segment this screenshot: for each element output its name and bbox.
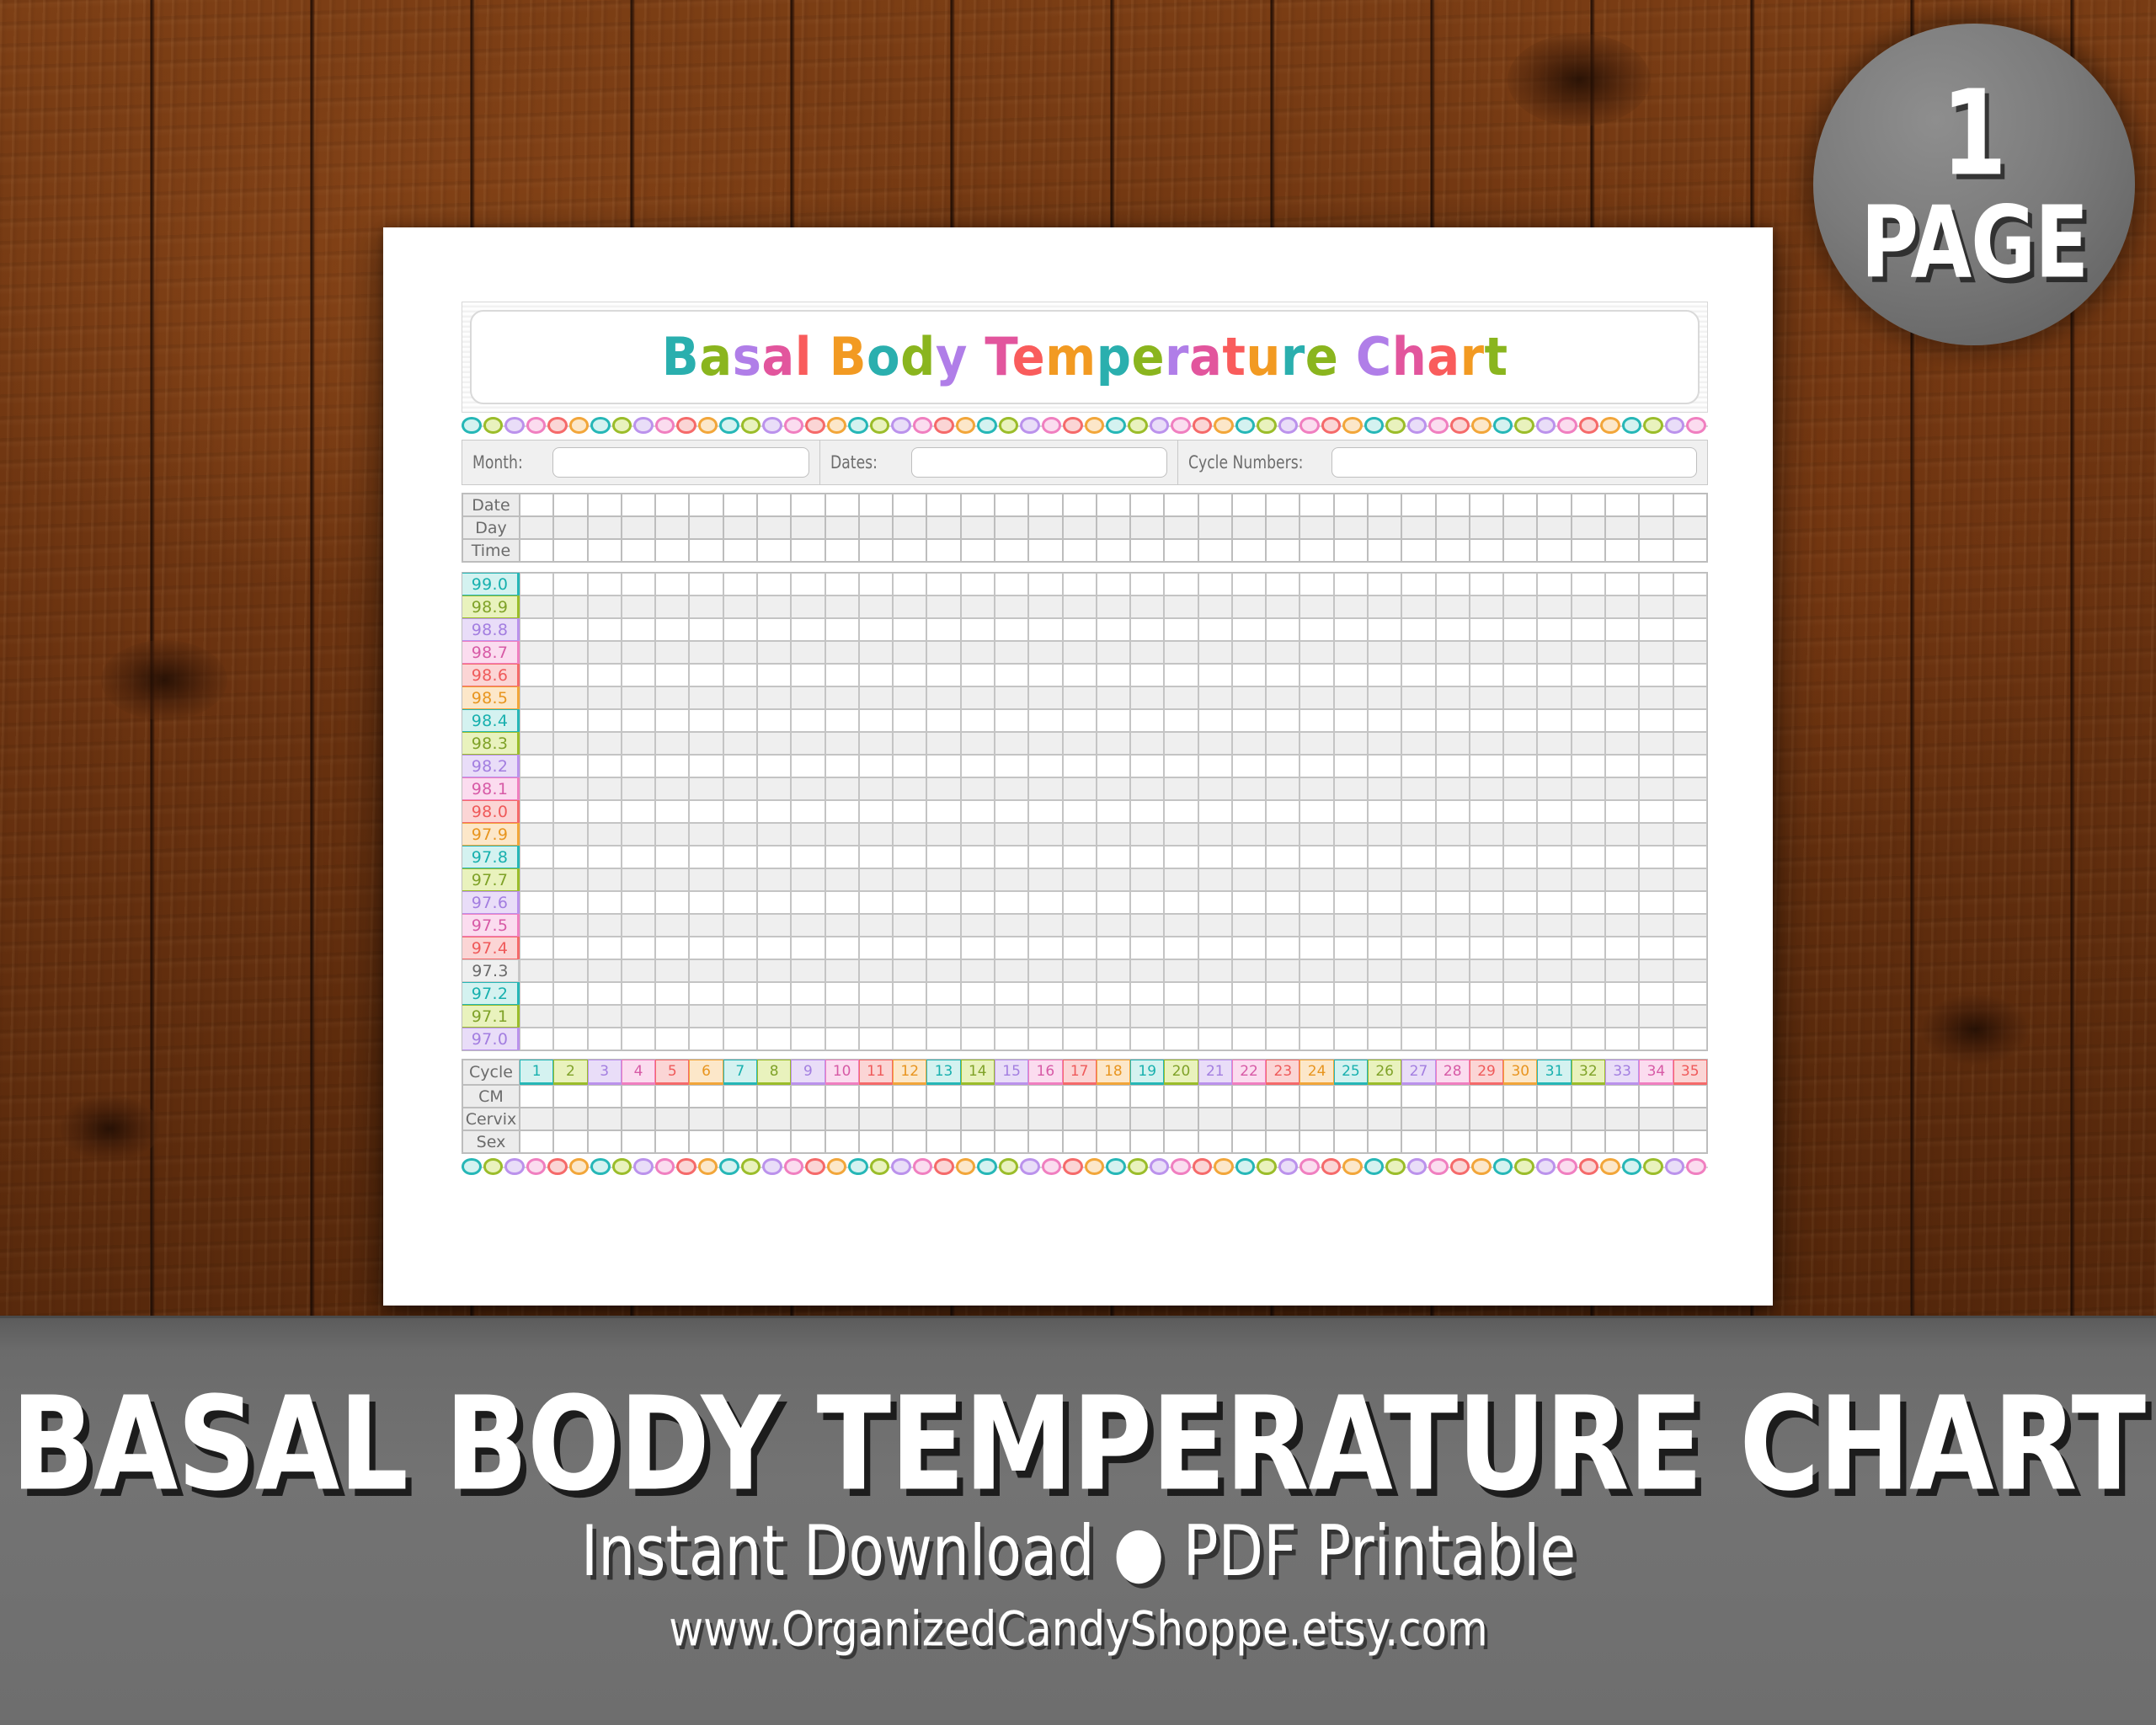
temperature-plot-cell[interactable] <box>757 1028 791 1050</box>
entry-cell[interactable] <box>961 1130 995 1153</box>
temperature-plot-cell[interactable] <box>1401 937 1435 959</box>
cycle-day-cell[interactable]: 14 <box>961 1060 995 1085</box>
entry-cell[interactable] <box>825 516 859 539</box>
temperature-plot-cell[interactable] <box>1572 846 1605 868</box>
temperature-plot-cell[interactable] <box>1266 982 1299 1005</box>
temperature-plot-cell[interactable] <box>1605 937 1639 959</box>
entry-cell[interactable] <box>791 1085 825 1108</box>
cycle-day-cell[interactable]: 25 <box>1334 1060 1368 1085</box>
temperature-plot-cell[interactable] <box>1198 641 1232 664</box>
temperature-plot-cell[interactable] <box>1266 709 1299 732</box>
entry-cell[interactable] <box>1299 516 1333 539</box>
temperature-plot-cell[interactable] <box>893 686 926 709</box>
entry-cell[interactable] <box>689 1108 723 1130</box>
cycle-numbers-input[interactable] <box>1331 447 1697 478</box>
temperature-plot-cell[interactable] <box>1266 800 1299 823</box>
temperature-plot-cell[interactable] <box>1130 618 1164 641</box>
temperature-plot-cell[interactable] <box>893 868 926 891</box>
temperature-plot-cell[interactable] <box>961 914 995 937</box>
temperature-plot-cell[interactable] <box>893 755 926 777</box>
temperature-plot-cell[interactable] <box>1572 664 1605 686</box>
temperature-plot-cell[interactable] <box>1028 664 1062 686</box>
temperature-plot-cell[interactable] <box>588 709 622 732</box>
temperature-plot-cell[interactable] <box>1537 595 1571 618</box>
temperature-plot-cell[interactable] <box>1639 709 1673 732</box>
temperature-plot-cell[interactable] <box>1639 800 1673 823</box>
temperature-plot-cell[interactable] <box>1605 618 1639 641</box>
entry-cell[interactable] <box>1401 539 1435 562</box>
temperature-plot-cell[interactable] <box>961 755 995 777</box>
entry-cell[interactable] <box>893 1108 926 1130</box>
temperature-plot-cell[interactable] <box>1097 641 1130 664</box>
temperature-plot-cell[interactable] <box>1232 777 1266 800</box>
temperature-plot-cell[interactable] <box>893 732 926 755</box>
temperature-plot-cell[interactable] <box>757 937 791 959</box>
entry-cell[interactable] <box>655 1108 689 1130</box>
temperature-plot-cell[interactable] <box>1436 1028 1470 1050</box>
temperature-plot-cell[interactable] <box>995 641 1028 664</box>
temperature-plot-cell[interactable] <box>1503 982 1537 1005</box>
temperature-plot-cell[interactable] <box>588 573 622 595</box>
temperature-plot-cell[interactable] <box>1063 595 1097 618</box>
temperature-plot-cell[interactable] <box>588 914 622 937</box>
temperature-plot-cell[interactable] <box>1334 959 1368 982</box>
entry-cell[interactable] <box>791 516 825 539</box>
temperature-plot-cell[interactable] <box>1130 1028 1164 1050</box>
entry-cell[interactable] <box>1503 494 1537 516</box>
temperature-plot-cell[interactable] <box>825 686 859 709</box>
temperature-plot-cell[interactable] <box>655 891 689 914</box>
temperature-plot-cell[interactable] <box>723 891 757 914</box>
temperature-plot-cell[interactable] <box>1299 959 1333 982</box>
temperature-plot-cell[interactable] <box>1605 846 1639 868</box>
temperature-plot-cell[interactable] <box>1401 1028 1435 1050</box>
temperature-plot-cell[interactable] <box>859 732 893 755</box>
temperature-plot-cell[interactable] <box>825 1005 859 1028</box>
entry-cell[interactable] <box>926 1130 960 1153</box>
temperature-plot-cell[interactable] <box>1436 709 1470 732</box>
temperature-plot-cell[interactable] <box>1673 937 1707 959</box>
temperature-plot-cell[interactable] <box>689 800 723 823</box>
temperature-plot-cell[interactable] <box>1436 641 1470 664</box>
temperature-plot-cell[interactable] <box>723 982 757 1005</box>
temperature-plot-cell[interactable] <box>655 573 689 595</box>
temperature-plot-cell[interactable] <box>757 755 791 777</box>
temperature-plot-cell[interactable] <box>1097 686 1130 709</box>
temperature-plot-cell[interactable] <box>1537 618 1571 641</box>
temperature-plot-cell[interactable] <box>622 573 655 595</box>
temperature-plot-cell[interactable] <box>859 641 893 664</box>
temperature-plot-cell[interactable] <box>757 800 791 823</box>
temperature-plot-cell[interactable] <box>1572 800 1605 823</box>
temperature-plot-cell[interactable] <box>1436 800 1470 823</box>
temperature-plot-cell[interactable] <box>1299 800 1333 823</box>
temperature-plot-cell[interactable] <box>622 914 655 937</box>
entry-cell[interactable] <box>723 1130 757 1153</box>
temperature-plot-cell[interactable] <box>588 777 622 800</box>
temperature-plot-cell[interactable] <box>1639 641 1673 664</box>
entry-cell[interactable] <box>1605 1108 1639 1130</box>
temperature-plot-cell[interactable] <box>1299 664 1333 686</box>
cycle-day-cell[interactable]: 4 <box>622 1060 655 1085</box>
temperature-plot-cell[interactable] <box>1572 937 1605 959</box>
temperature-plot-cell[interactable] <box>926 982 960 1005</box>
temperature-plot-cell[interactable] <box>655 664 689 686</box>
temperature-plot-cell[interactable] <box>757 595 791 618</box>
entry-cell[interactable] <box>1232 1085 1266 1108</box>
temperature-plot-cell[interactable] <box>1401 573 1435 595</box>
temperature-plot-cell[interactable] <box>1097 800 1130 823</box>
temperature-plot-cell[interactable] <box>1639 1028 1673 1050</box>
entry-cell[interactable] <box>1063 1108 1097 1130</box>
temperature-plot-cell[interactable] <box>1232 755 1266 777</box>
temperature-plot-cell[interactable] <box>926 914 960 937</box>
temperature-plot-cell[interactable] <box>961 846 995 868</box>
temperature-plot-cell[interactable] <box>1097 823 1130 846</box>
cycle-day-cell[interactable]: 19 <box>1130 1060 1164 1085</box>
temperature-plot-cell[interactable] <box>926 573 960 595</box>
temperature-plot-cell[interactable] <box>1028 573 1062 595</box>
temperature-plot-cell[interactable] <box>1334 868 1368 891</box>
temperature-plot-cell[interactable] <box>622 755 655 777</box>
entry-cell[interactable] <box>1572 539 1605 562</box>
temperature-plot-cell[interactable] <box>1605 664 1639 686</box>
temperature-plot-cell[interactable] <box>1572 573 1605 595</box>
temperature-plot-cell[interactable] <box>553 573 587 595</box>
entry-cell[interactable] <box>757 1085 791 1108</box>
temperature-plot-cell[interactable] <box>1299 777 1333 800</box>
temperature-plot-cell[interactable] <box>1164 732 1198 755</box>
temperature-plot-cell[interactable] <box>1334 1028 1368 1050</box>
temperature-plot-cell[interactable] <box>1097 846 1130 868</box>
entry-cell[interactable] <box>1537 516 1571 539</box>
temperature-plot-cell[interactable] <box>757 573 791 595</box>
temperature-plot-cell[interactable] <box>553 891 587 914</box>
cycle-day-cell[interactable]: 28 <box>1436 1060 1470 1085</box>
temperature-plot-cell[interactable] <box>689 777 723 800</box>
temperature-plot-cell[interactable] <box>1470 823 1503 846</box>
temperature-plot-cell[interactable] <box>1232 618 1266 641</box>
temperature-plot-cell[interactable] <box>926 709 960 732</box>
entry-cell[interactable] <box>1266 1085 1299 1108</box>
temperature-plot-cell[interactable] <box>1097 1028 1130 1050</box>
temperature-plot-cell[interactable] <box>1537 732 1571 755</box>
temperature-plot-cell[interactable] <box>791 618 825 641</box>
entry-cell[interactable] <box>1164 516 1198 539</box>
temperature-plot-cell[interactable] <box>1198 1005 1232 1028</box>
temperature-plot-cell[interactable] <box>961 823 995 846</box>
entry-cell[interactable] <box>1232 1130 1266 1153</box>
temperature-plot-cell[interactable] <box>1572 914 1605 937</box>
temperature-plot-cell[interactable] <box>723 823 757 846</box>
entry-cell[interactable] <box>655 1130 689 1153</box>
entry-cell[interactable] <box>1639 1108 1673 1130</box>
temperature-plot-cell[interactable] <box>757 1005 791 1028</box>
temperature-plot-cell[interactable] <box>1368 732 1401 755</box>
entry-cell[interactable] <box>757 516 791 539</box>
entry-cell[interactable] <box>1639 1085 1673 1108</box>
temperature-plot-cell[interactable] <box>655 641 689 664</box>
entry-cell[interactable] <box>926 494 960 516</box>
temperature-plot-cell[interactable] <box>723 846 757 868</box>
temperature-plot-cell[interactable] <box>588 868 622 891</box>
temperature-plot-cell[interactable] <box>1334 686 1368 709</box>
temperature-plot-cell[interactable] <box>995 914 1028 937</box>
entry-cell[interactable] <box>995 494 1028 516</box>
entry-cell[interactable] <box>1537 494 1571 516</box>
temperature-plot-cell[interactable] <box>893 777 926 800</box>
entry-cell[interactable] <box>1028 539 1062 562</box>
temperature-plot-cell[interactable] <box>1028 618 1062 641</box>
temperature-plot-cell[interactable] <box>520 686 553 709</box>
entry-cell[interactable] <box>1572 1130 1605 1153</box>
entry-cell[interactable] <box>1368 539 1401 562</box>
temperature-plot-cell[interactable] <box>791 732 825 755</box>
temperature-plot-cell[interactable] <box>723 641 757 664</box>
temperature-plot-cell[interactable] <box>893 664 926 686</box>
cycle-day-cell[interactable]: 24 <box>1299 1060 1333 1085</box>
temperature-plot-cell[interactable] <box>1232 1005 1266 1028</box>
temperature-plot-cell[interactable] <box>1401 891 1435 914</box>
temperature-plot-cell[interactable] <box>1572 959 1605 982</box>
entry-cell[interactable] <box>1639 494 1673 516</box>
temperature-plot-cell[interactable] <box>689 868 723 891</box>
temperature-plot-cell[interactable] <box>520 914 553 937</box>
temperature-plot-cell[interactable] <box>622 982 655 1005</box>
temperature-plot-cell[interactable] <box>757 686 791 709</box>
entry-cell[interactable] <box>1673 494 1707 516</box>
temperature-plot-cell[interactable] <box>1368 959 1401 982</box>
temperature-plot-cell[interactable] <box>1673 777 1707 800</box>
temperature-plot-cell[interactable] <box>1063 1028 1097 1050</box>
temperature-plot-cell[interactable] <box>1164 914 1198 937</box>
temperature-plot-cell[interactable] <box>689 982 723 1005</box>
entry-cell[interactable] <box>825 1085 859 1108</box>
temperature-plot-cell[interactable] <box>1334 777 1368 800</box>
temperature-plot-cell[interactable] <box>1436 914 1470 937</box>
entry-cell[interactable] <box>1130 516 1164 539</box>
temperature-plot-cell[interactable] <box>723 868 757 891</box>
temperature-plot-cell[interactable] <box>926 937 960 959</box>
temperature-plot-cell[interactable] <box>1537 664 1571 686</box>
temperature-plot-cell[interactable] <box>689 618 723 641</box>
temperature-plot-cell[interactable] <box>588 959 622 982</box>
temperature-plot-cell[interactable] <box>1537 914 1571 937</box>
temperature-plot-cell[interactable] <box>1572 755 1605 777</box>
temperature-plot-cell[interactable] <box>791 846 825 868</box>
temperature-plot-cell[interactable] <box>1334 664 1368 686</box>
temperature-plot-cell[interactable] <box>757 664 791 686</box>
temperature-plot-cell[interactable] <box>1436 777 1470 800</box>
temperature-plot-cell[interactable] <box>689 595 723 618</box>
temperature-plot-cell[interactable] <box>995 868 1028 891</box>
temperature-plot-cell[interactable] <box>893 914 926 937</box>
temperature-plot-cell[interactable] <box>1130 800 1164 823</box>
temperature-plot-cell[interactable] <box>791 868 825 891</box>
entry-cell[interactable] <box>1097 539 1130 562</box>
temperature-plot-cell[interactable] <box>825 641 859 664</box>
temperature-plot-cell[interactable] <box>1028 959 1062 982</box>
temperature-plot-cell[interactable] <box>961 641 995 664</box>
entry-cell[interactable] <box>1097 1130 1130 1153</box>
entry-cell[interactable] <box>1198 494 1232 516</box>
temperature-plot-cell[interactable] <box>655 982 689 1005</box>
temperature-plot-cell[interactable] <box>1503 800 1537 823</box>
entry-cell[interactable] <box>520 1108 553 1130</box>
temperature-plot-cell[interactable] <box>1470 755 1503 777</box>
entry-cell[interactable] <box>723 516 757 539</box>
temperature-plot-cell[interactable] <box>1605 595 1639 618</box>
temperature-plot-cell[interactable] <box>520 664 553 686</box>
entry-cell[interactable] <box>1605 1085 1639 1108</box>
temperature-plot-cell[interactable] <box>1503 1028 1537 1050</box>
temperature-plot-cell[interactable] <box>1198 573 1232 595</box>
entry-cell[interactable] <box>1673 539 1707 562</box>
temperature-plot-cell[interactable] <box>1605 709 1639 732</box>
temperature-plot-cell[interactable] <box>1470 732 1503 755</box>
entry-cell[interactable] <box>1673 1108 1707 1130</box>
temperature-plot-cell[interactable] <box>1470 846 1503 868</box>
temperature-plot-cell[interactable] <box>1164 777 1198 800</box>
temperature-plot-cell[interactable] <box>723 1028 757 1050</box>
entry-cell[interactable] <box>1097 1085 1130 1108</box>
entry-cell[interactable] <box>791 539 825 562</box>
entry-cell[interactable] <box>1266 516 1299 539</box>
temperature-plot-cell[interactable] <box>689 641 723 664</box>
temperature-plot-cell[interactable] <box>757 732 791 755</box>
temperature-plot-cell[interactable] <box>926 664 960 686</box>
temperature-plot-cell[interactable] <box>1028 800 1062 823</box>
temperature-plot-cell[interactable] <box>1266 937 1299 959</box>
entry-cell[interactable] <box>1605 1130 1639 1153</box>
temperature-plot-cell[interactable] <box>1164 846 1198 868</box>
cycle-day-cell[interactable]: 12 <box>893 1060 926 1085</box>
temperature-plot-cell[interactable] <box>859 982 893 1005</box>
cycle-day-cell[interactable]: 1 <box>520 1060 553 1085</box>
temperature-plot-cell[interactable] <box>1266 1028 1299 1050</box>
temperature-plot-cell[interactable] <box>520 618 553 641</box>
entry-cell[interactable] <box>893 1085 926 1108</box>
temperature-plot-cell[interactable] <box>1368 777 1401 800</box>
temperature-plot-cell[interactable] <box>825 709 859 732</box>
entry-cell[interactable] <box>1470 539 1503 562</box>
entry-cell[interactable] <box>859 1130 893 1153</box>
entry-cell[interactable] <box>1164 494 1198 516</box>
entry-cell[interactable] <box>1673 516 1707 539</box>
entry-cell[interactable] <box>1299 539 1333 562</box>
temperature-plot-cell[interactable] <box>1673 732 1707 755</box>
temperature-plot-cell[interactable] <box>1639 937 1673 959</box>
entry-cell[interactable] <box>1401 1130 1435 1153</box>
temperature-plot-cell[interactable] <box>791 959 825 982</box>
temperature-plot-cell[interactable] <box>1232 732 1266 755</box>
temperature-plot-cell[interactable] <box>1028 914 1062 937</box>
entry-cell[interactable] <box>1436 1085 1470 1108</box>
temperature-plot-cell[interactable] <box>1673 595 1707 618</box>
entry-cell[interactable] <box>1130 1130 1164 1153</box>
temperature-plot-cell[interactable] <box>825 732 859 755</box>
entry-cell[interactable] <box>1503 516 1537 539</box>
temperature-plot-cell[interactable] <box>1130 641 1164 664</box>
temperature-plot-cell[interactable] <box>1198 891 1232 914</box>
cycle-day-cell[interactable]: 26 <box>1368 1060 1401 1085</box>
entry-cell[interactable] <box>1401 1108 1435 1130</box>
temperature-plot-cell[interactable] <box>1368 891 1401 914</box>
cycle-day-cell[interactable]: 23 <box>1266 1060 1299 1085</box>
temperature-plot-cell[interactable] <box>757 868 791 891</box>
temperature-plot-cell[interactable] <box>1673 982 1707 1005</box>
temperature-plot-cell[interactable] <box>1436 595 1470 618</box>
temperature-plot-cell[interactable] <box>961 937 995 959</box>
entry-cell[interactable] <box>893 494 926 516</box>
temperature-plot-cell[interactable] <box>1063 823 1097 846</box>
entry-cell[interactable] <box>588 1108 622 1130</box>
temperature-plot-cell[interactable] <box>1572 1005 1605 1028</box>
temperature-plot-cell[interactable] <box>1130 891 1164 914</box>
entry-cell[interactable] <box>553 516 587 539</box>
temperature-plot-cell[interactable] <box>1639 777 1673 800</box>
temperature-plot-cell[interactable] <box>1232 686 1266 709</box>
entry-cell[interactable] <box>1232 494 1266 516</box>
temperature-plot-cell[interactable] <box>1470 641 1503 664</box>
temperature-plot-cell[interactable] <box>1436 755 1470 777</box>
temperature-plot-cell[interactable] <box>859 618 893 641</box>
entry-cell[interactable] <box>553 1085 587 1108</box>
temperature-plot-cell[interactable] <box>1368 686 1401 709</box>
temperature-plot-cell[interactable] <box>926 1005 960 1028</box>
temperature-plot-cell[interactable] <box>520 777 553 800</box>
entry-cell[interactable] <box>1503 1108 1537 1130</box>
temperature-plot-cell[interactable] <box>1232 868 1266 891</box>
temperature-plot-cell[interactable] <box>723 914 757 937</box>
temperature-plot-cell[interactable] <box>1503 937 1537 959</box>
entry-cell[interactable] <box>859 539 893 562</box>
temperature-plot-cell[interactable] <box>1334 914 1368 937</box>
entry-cell[interactable] <box>1368 494 1401 516</box>
temperature-plot-cell[interactable] <box>1028 732 1062 755</box>
temperature-plot-cell[interactable] <box>1368 914 1401 937</box>
temperature-plot-cell[interactable] <box>859 937 893 959</box>
temperature-plot-cell[interactable] <box>1639 755 1673 777</box>
temperature-plot-cell[interactable] <box>1198 823 1232 846</box>
entry-cell[interactable] <box>1063 539 1097 562</box>
entry-cell[interactable] <box>1063 1085 1097 1108</box>
temperature-plot-cell[interactable] <box>1673 1028 1707 1050</box>
temperature-plot-cell[interactable] <box>655 777 689 800</box>
entry-cell[interactable] <box>1097 494 1130 516</box>
temperature-plot-cell[interactable] <box>1232 573 1266 595</box>
temperature-plot-cell[interactable] <box>1537 868 1571 891</box>
temperature-plot-cell[interactable] <box>622 891 655 914</box>
temperature-plot-cell[interactable] <box>1503 1005 1537 1028</box>
temperature-plot-cell[interactable] <box>961 868 995 891</box>
temperature-plot-cell[interactable] <box>655 937 689 959</box>
temperature-plot-cell[interactable] <box>655 618 689 641</box>
temperature-plot-cell[interactable] <box>1063 914 1097 937</box>
temperature-plot-cell[interactable] <box>825 891 859 914</box>
temperature-plot-cell[interactable] <box>553 982 587 1005</box>
temperature-plot-cell[interactable] <box>588 732 622 755</box>
temperature-plot-cell[interactable] <box>1198 959 1232 982</box>
cycle-day-cell[interactable]: 35 <box>1673 1060 1707 1085</box>
entry-cell[interactable] <box>1063 494 1097 516</box>
entry-cell[interactable] <box>1503 539 1537 562</box>
temperature-plot-cell[interactable] <box>859 595 893 618</box>
temperature-plot-cell[interactable] <box>1334 891 1368 914</box>
temperature-plot-cell[interactable] <box>995 800 1028 823</box>
temperature-plot-cell[interactable] <box>995 959 1028 982</box>
temperature-plot-cell[interactable] <box>791 755 825 777</box>
